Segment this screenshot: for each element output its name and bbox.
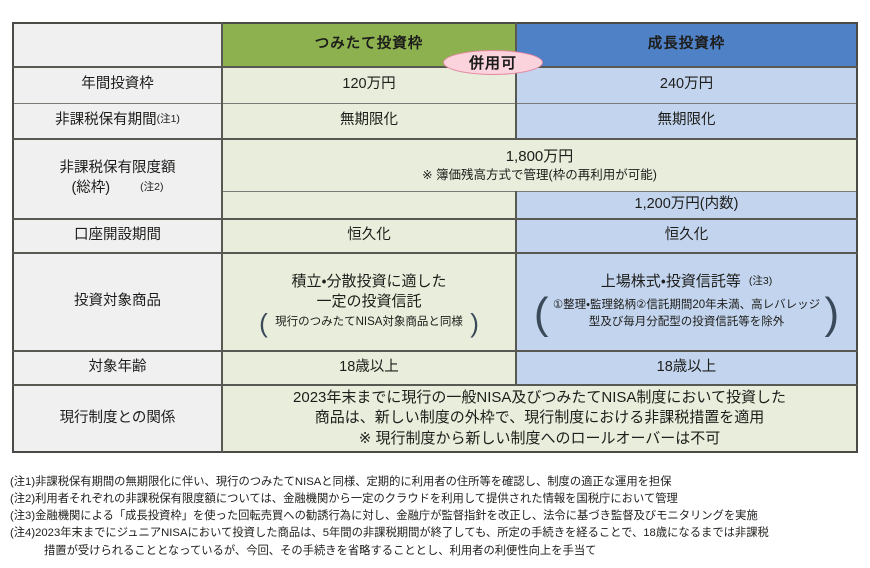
table-row: 現行制度との関係 2023年末までに現行の一般NISA及びつみたてNISA制度に… <box>13 385 857 452</box>
current-system-line3: ※ 現行制度から新しい制度へのロールオーバーは不可 <box>227 429 852 449</box>
nisa-table-container: 併用可 つみたて投資枠 成長投資枠 年間投資枠 120万円 240万円 <box>12 22 856 453</box>
cell-account-period-tsumitate: 恒久化 <box>222 219 516 253</box>
row-label-age: 対象年齢 <box>13 351 222 385</box>
products-seichou-bracket-line1: ①整理・監理銘柄②信託期間20年未満、高レバレッジ <box>553 297 820 314</box>
heiyouka-badge: 併用可 <box>443 50 543 75</box>
row-label-total-limit-line2: (総枠) (注2) <box>18 179 217 199</box>
cell-total-limit-tsumitate-empty <box>222 191 516 219</box>
total-limit-subtext: ※ 簿価残高方式で管理(枠の再利用が可能) <box>227 167 852 184</box>
table-row: 非課税保有期間(注1) 無期限化 無期限化 <box>13 103 857 139</box>
products-seichou-line1: 上場株式・投資信託等(注3) <box>521 272 852 292</box>
footnote-2: (注2)利用者それぞれの非課税保有限度額については、金融機関から一定のクラウドを… <box>10 491 866 508</box>
current-system-line1: 2023年末までに現行の一般NISA及びつみたてNISA制度において投資した <box>227 388 852 408</box>
total-limit-amount: 1,800万円 <box>227 147 852 167</box>
nisa-comparison-page: 併用可 つみたて投資枠 成長投資枠 年間投資枠 120万円 240万円 <box>0 0 870 568</box>
products-seichou-bracket-line2: 型及び毎月分配型の投資信託等を除外 <box>553 314 820 331</box>
row-label-account-period: 口座開設期間 <box>13 219 222 253</box>
cell-total-limit-seichou-inner: 1,200万円(内数) <box>516 191 857 219</box>
footnote-4-continued: 措置が受けられることとなっているが、今回、その手続きを省略することとし、利用者の… <box>10 543 866 560</box>
row-label-current-system: 現行制度との関係 <box>13 385 222 452</box>
table-row: 年間投資枠 120万円 240万円 <box>13 67 857 103</box>
cell-annual-limit-seichou: 240万円 <box>516 67 857 103</box>
footnote-4: (注4)2023年末までにジュニアNISAにおいて投資した商品は、5年間の非課税… <box>10 525 866 542</box>
products-tsumitate-line1: 積立・分散投資に適した <box>227 272 511 292</box>
cell-products-seichou: 上場株式・投資信託等(注3) ①整理・監理銘柄②信託期間20年未満、高レバレッジ… <box>516 253 857 351</box>
row-label-holding-period: 非課税保有期間(注1) <box>13 103 222 139</box>
cell-current-system-merged: 2023年末までに現行の一般NISA及びつみたてNISA制度において投資した 商… <box>222 385 857 452</box>
footnote-1: (注1)非課税保有期間の無期限化に伴い、現行のつみたてNISAと同様、定期的に利… <box>10 474 866 491</box>
row-label-annual-limit: 年間投資枠 <box>13 67 222 103</box>
products-tsumitate-line2: 一定の投資信託 <box>227 292 511 312</box>
table-row: 非課税保有限度額 (総枠) (注2) 1,800万円 ※ 簿価残高方式で管理(枠… <box>13 139 857 191</box>
nisa-comparison-table: つみたて投資枠 成長投資枠 年間投資枠 120万円 240万円 非課税保有期間(… <box>12 22 858 453</box>
row-label-total-limit-note: (注2) <box>140 181 163 193</box>
footnote-3: (注3)金融機関による「成長投資枠」を使った回転売買への勧誘行為に対し、金融庁が… <box>10 508 866 525</box>
row-label-products: 投資対象商品 <box>13 253 222 351</box>
cell-age-seichou: 18歳以上 <box>516 351 857 385</box>
table-row: 口座開設期間 恒久化 恒久化 <box>13 219 857 253</box>
cell-total-limit-merged: 1,800万円 ※ 簿価残高方式で管理(枠の再利用が可能) <box>222 139 857 191</box>
table-row: 対象年齢 18歳以上 18歳以上 <box>13 351 857 385</box>
products-seichou-note: (注3) <box>749 275 772 287</box>
row-label-total-limit: 非課税保有限度額 (総枠) (注2) <box>13 139 222 219</box>
cell-holding-period-seichou: 無期限化 <box>516 103 857 139</box>
products-seichou-title: 上場株式・投資信託等 <box>601 273 741 290</box>
row-label-total-limit-sub: (総枠) <box>71 180 110 196</box>
row-label-total-limit-line1: 非課税保有限度額 <box>18 159 217 179</box>
footnotes-block: (注1)非課税保有期間の無期限化に伴い、現行のつみたてNISAと同様、定期的に利… <box>10 474 866 560</box>
products-seichou-bracket: ①整理・監理銘柄②信託期間20年未満、高レバレッジ 型及び毎月分配型の投資信託等… <box>533 295 840 332</box>
cell-products-tsumitate: 積立・分散投資に適した 一定の投資信託 現行のつみたてNISA対象商品と同様 <box>222 253 516 351</box>
current-system-line2: 商品は、新しい制度の外枠で、現行制度における非課税措置を適用 <box>227 408 852 428</box>
header-seichou: 成長投資枠 <box>516 23 857 67</box>
row-label-holding-period-text: 非課税保有期間 <box>55 112 157 128</box>
header-blank-cell <box>13 23 222 67</box>
row-label-holding-period-note: (注1) <box>157 113 180 125</box>
table-header-row: つみたて投資枠 成長投資枠 <box>13 23 857 67</box>
cell-age-tsumitate: 18歳以上 <box>222 351 516 385</box>
cell-account-period-seichou: 恒久化 <box>516 219 857 253</box>
products-tsumitate-bracket: 現行のつみたてNISA対象商品と同様 <box>257 314 481 331</box>
cell-holding-period-tsumitate: 無期限化 <box>222 103 516 139</box>
table-row: 投資対象商品 積立・分散投資に適した 一定の投資信託 現行のつみたてNISA対象… <box>13 253 857 351</box>
